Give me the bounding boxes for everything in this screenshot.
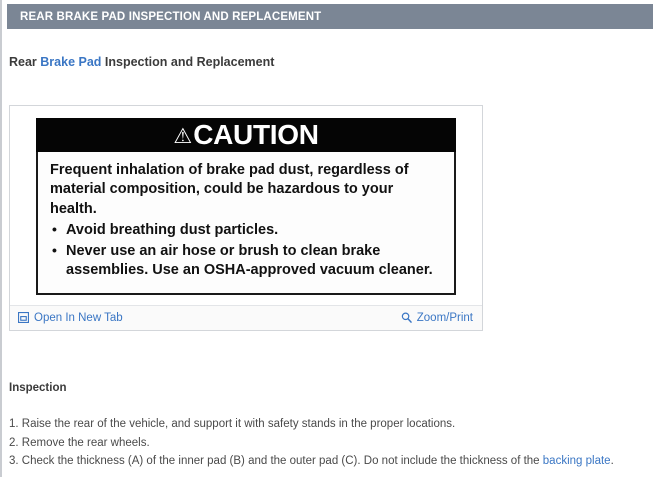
page-title: REAR BRAKE PAD INSPECTION AND REPLACEMEN… bbox=[20, 11, 321, 23]
open-in-new-tab-label: Open In New Tab bbox=[34, 312, 123, 324]
list-item: 2. Remove the rear wheels. bbox=[9, 434, 651, 453]
caution-bullet-item: Never use an air hose or brush to clean … bbox=[50, 242, 442, 281]
zoom-print-button[interactable]: Zoom/Print bbox=[401, 312, 473, 324]
breadcrumb-suffix: Inspection and Replacement bbox=[101, 55, 274, 69]
breadcrumb-prefix: Rear bbox=[9, 55, 40, 69]
step-number: 2. bbox=[9, 437, 19, 449]
step-link-backing-plate[interactable]: backing plate bbox=[543, 455, 611, 467]
caution-bullet-list: Avoid breathing dust particles. Never us… bbox=[50, 221, 442, 281]
open-in-new-tab-icon bbox=[18, 312, 29, 323]
breadcrumb: Rear Brake Pad Inspection and Replacemen… bbox=[9, 55, 657, 70]
magnifier-icon bbox=[401, 312, 412, 323]
caution-banner-label: CAUTION bbox=[193, 121, 318, 149]
step-text: Remove the rear wheels. bbox=[22, 437, 150, 449]
caution-paragraph: Frequent inhalation of brake pad dust, r… bbox=[50, 161, 442, 219]
warning-triangle-icon: ⚠ bbox=[173, 126, 192, 147]
step-number: 1. bbox=[9, 418, 19, 430]
figure-image-area[interactable]: ⚠ CAUTION Frequent inhalation of brake p… bbox=[10, 106, 482, 305]
inspection-steps-list: 1. Raise the rear of the vehicle, and su… bbox=[9, 415, 651, 471]
caution-bullet-item: Avoid breathing dust particles. bbox=[50, 221, 442, 240]
list-item: 3. Check the thickness (A) of the inner … bbox=[9, 452, 651, 471]
caution-body: Frequent inhalation of brake pad dust, r… bbox=[38, 152, 454, 293]
caution-scan-image: ⚠ CAUTION Frequent inhalation of brake p… bbox=[36, 118, 456, 295]
page-titlebar: REAR BRAKE PAD INSPECTION AND REPLACEMEN… bbox=[7, 4, 653, 29]
breadcrumb-link-brake-pad[interactable]: Brake Pad bbox=[40, 55, 101, 69]
titlebar-container: REAR BRAKE PAD INSPECTION AND REPLACEMEN… bbox=[2, 0, 657, 29]
figure-toolbar: Open In New Tab Zoom/Print bbox=[10, 305, 482, 330]
open-in-new-tab-button[interactable]: Open In New Tab bbox=[18, 312, 123, 324]
figure-card: ⚠ CAUTION Frequent inhalation of brake p… bbox=[9, 105, 483, 331]
step-number: 3. bbox=[9, 455, 19, 467]
step-text-tail: . bbox=[611, 455, 614, 467]
step-text: Check the thickness (A) of the inner pad… bbox=[22, 455, 543, 467]
section-title-inspection: Inspection bbox=[9, 382, 67, 394]
caution-banner: ⚠ CAUTION bbox=[36, 118, 456, 152]
zoom-print-label: Zoom/Print bbox=[417, 312, 473, 324]
step-text: Raise the rear of the vehicle, and suppo… bbox=[22, 418, 455, 430]
list-item: 1. Raise the rear of the vehicle, and su… bbox=[9, 415, 651, 434]
